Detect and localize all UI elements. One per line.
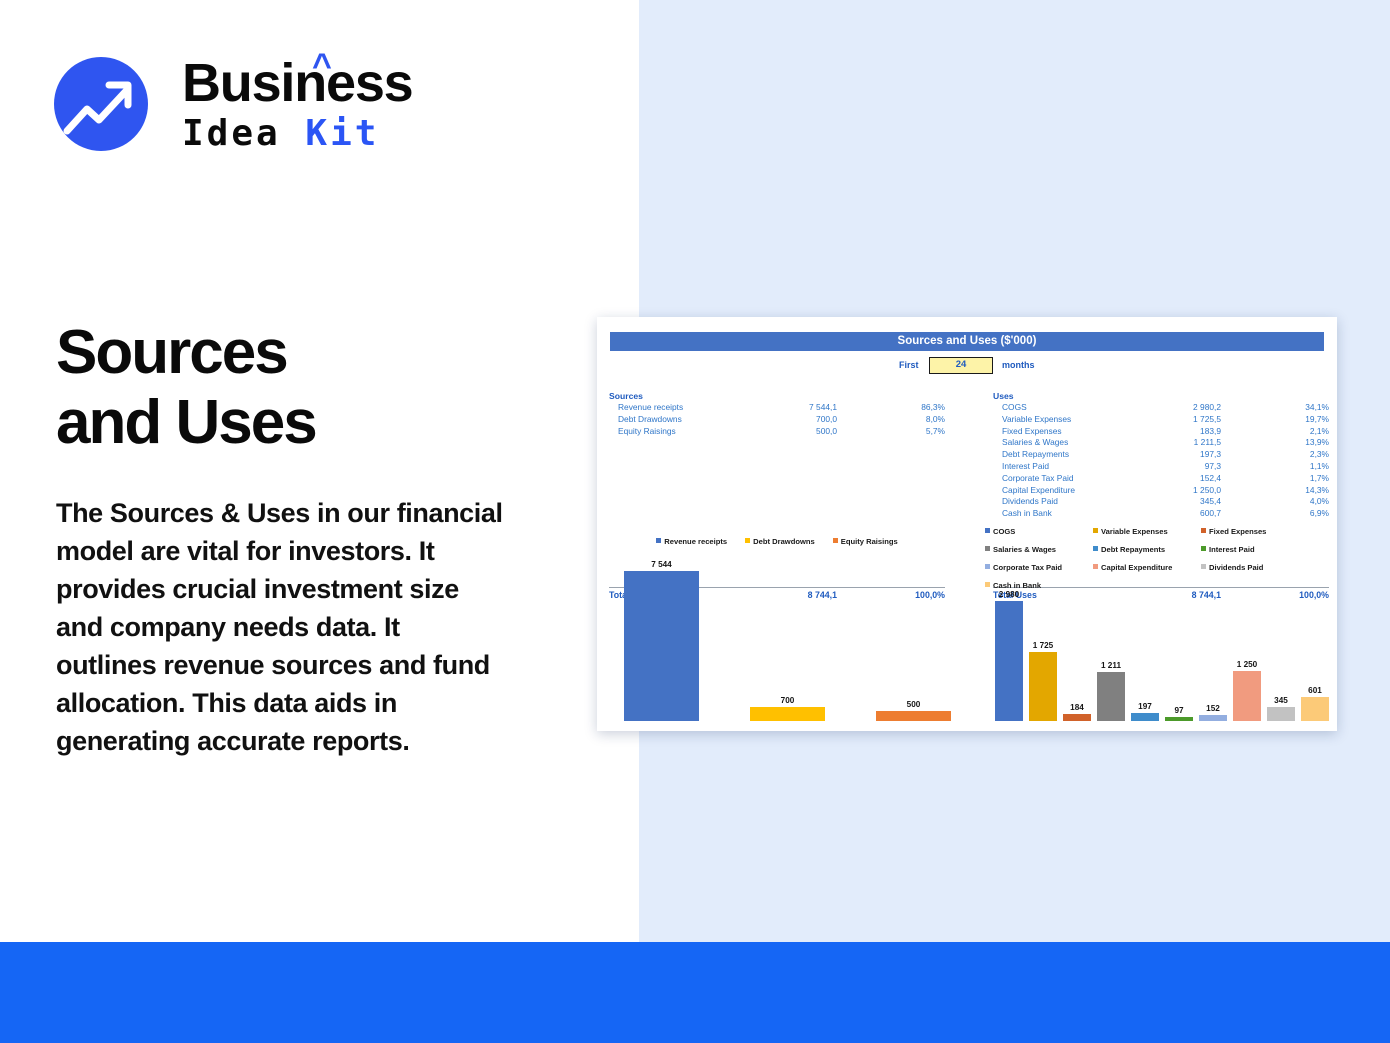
sources-row-value: 7 544,1 xyxy=(809,402,837,414)
uses-row-value: 1 250,0 xyxy=(1193,485,1221,497)
uses-row-value: 152,4 xyxy=(1200,473,1221,485)
sources-row-pct: 86,3% xyxy=(891,402,945,414)
table-row: Fixed Expenses183,92,1% xyxy=(993,426,1329,438)
table-row: Corporate Tax Paid152,41,7% xyxy=(993,473,1329,485)
table-row: Revenue receipts7 544,186,3% xyxy=(609,402,945,414)
uses-row-pct: 34,1% xyxy=(1275,402,1329,414)
legend-label: COGS xyxy=(993,527,1015,536)
sources-bar-group[interactable]: 500 xyxy=(876,571,951,721)
uses-bar-group[interactable]: 601 xyxy=(1301,601,1329,721)
sources-chart-legend: Revenue receiptsDebt DrawdownsEquity Rai… xyxy=(609,535,945,555)
sources-bar[interactable] xyxy=(876,711,951,721)
uses-row-pct: 14,3% xyxy=(1275,485,1329,497)
legend-label: Interest Paid xyxy=(1209,545,1255,554)
uses-row-value: 1 211,5 xyxy=(1194,437,1221,449)
uses-table-body: COGS2 980,234,1%Variable Expenses1 725,5… xyxy=(993,402,1329,520)
legend-label: Cash in Bank xyxy=(993,581,1041,590)
legend-label: Equity Raisings xyxy=(841,537,898,546)
uses-bar-value-label: 601 xyxy=(1301,686,1329,695)
uses-bar[interactable] xyxy=(1029,652,1057,721)
sources-bar-group[interactable]: 700 xyxy=(750,571,825,721)
uses-row-label: COGS xyxy=(1002,402,1027,414)
uses-legend-item[interactable]: Corporate Tax Paid xyxy=(985,563,1093,572)
sources-table-header: Sources xyxy=(609,391,945,401)
uses-chart-legend: COGSVariable ExpensesFixed ExpensesSalar… xyxy=(981,527,1325,599)
trend-arrow-circle-icon xyxy=(54,57,148,151)
table-row: Cash in Bank600,76,9% xyxy=(993,508,1329,520)
brand-wordmark: Business ^ Idea Kit xyxy=(182,53,452,155)
period-prefix-label: First xyxy=(899,360,919,370)
legend-swatch-icon xyxy=(1093,546,1098,551)
uses-row-label: Salaries & Wages xyxy=(1002,437,1068,449)
uses-bar[interactable] xyxy=(1063,714,1091,721)
legend-swatch-icon xyxy=(1201,528,1206,533)
sources-bar[interactable] xyxy=(750,707,825,721)
period-suffix-label: months xyxy=(1002,360,1035,370)
uses-row-value: 197,3 xyxy=(1200,449,1221,461)
sources-table-body: Revenue receipts7 544,186,3%Debt Drawdow… xyxy=(609,402,945,437)
uses-legend-item[interactable]: Capital Expenditure xyxy=(1093,563,1201,572)
table-row: Capital Expenditure1 250,014,3% xyxy=(993,485,1329,497)
uses-legend-item[interactable]: Dividends Paid xyxy=(1201,563,1309,572)
sources-table: Sources Revenue receipts7 544,186,3%Debt… xyxy=(609,391,945,437)
uses-row-pct: 1,1% xyxy=(1275,461,1329,473)
sources-row-value: 500,0 xyxy=(816,426,837,438)
legend-swatch-icon xyxy=(985,546,990,551)
legend-label: Corporate Tax Paid xyxy=(993,563,1062,572)
bottom-accent-bar xyxy=(0,942,1390,1043)
uses-row-pct: 1,7% xyxy=(1275,473,1329,485)
uses-legend-item[interactable]: Fixed Expenses xyxy=(1201,527,1309,536)
sources-row-value: 700,0 xyxy=(816,414,837,426)
uses-bar-value-label: 184 xyxy=(1063,703,1091,712)
legend-label: Salaries & Wages xyxy=(993,545,1056,554)
uses-row-pct: 2,1% xyxy=(1275,426,1329,438)
uses-bar-group[interactable]: 345 xyxy=(1267,601,1295,721)
uses-bar[interactable] xyxy=(1131,713,1159,721)
uses-row-pct: 4,0% xyxy=(1275,496,1329,508)
uses-row-value: 183,9 xyxy=(1200,426,1221,438)
uses-row-label: Fixed Expenses xyxy=(1002,426,1062,438)
sources-bar[interactable] xyxy=(624,571,699,721)
uses-legend-item[interactable]: Debt Repayments xyxy=(1093,545,1201,554)
table-row: COGS2 980,234,1% xyxy=(993,402,1329,414)
legend-label: Revenue receipts xyxy=(664,537,727,546)
period-months-input[interactable]: 24 xyxy=(929,357,993,374)
sources-and-uses-report-panel: Sources and Uses ($'000) First 24 months… xyxy=(597,317,1337,731)
uses-bar-value-label: 1 250 xyxy=(1233,660,1261,669)
period-selector-row: First 24 months xyxy=(597,357,1337,377)
legend-swatch-icon xyxy=(985,582,990,587)
uses-bar-chart: COGSVariable ExpensesFixed ExpensesSalar… xyxy=(981,527,1325,721)
uses-row-value: 345,4 xyxy=(1200,496,1221,508)
uses-row-value: 97,3 xyxy=(1205,461,1221,473)
uses-row-pct: 19,7% xyxy=(1275,414,1329,426)
legend-swatch-icon xyxy=(1093,564,1098,569)
sources-row-label: Equity Raisings xyxy=(618,426,676,438)
uses-bar-group[interactable]: 197 xyxy=(1131,601,1159,721)
uses-bar[interactable] xyxy=(1267,707,1295,721)
legend-label: Variable Expenses xyxy=(1101,527,1168,536)
legend-label: Capital Expenditure xyxy=(1101,563,1172,572)
legend-swatch-icon xyxy=(1201,546,1206,551)
uses-bar[interactable] xyxy=(995,601,1023,721)
uses-row-label: Dividends Paid xyxy=(1002,496,1058,508)
sources-bar-group[interactable]: 7 544 xyxy=(624,571,699,721)
legend-swatch-icon xyxy=(1093,528,1098,533)
uses-row-value: 1 725,5 xyxy=(1193,414,1221,426)
uses-row-value: 2 980,2 xyxy=(1193,402,1221,414)
uses-legend-item[interactable]: Variable Expenses xyxy=(1093,527,1201,536)
brand-name-idea: Idea xyxy=(182,113,281,154)
legend-swatch-icon xyxy=(985,564,990,569)
brand-name-line2: Idea Kit xyxy=(182,113,379,154)
uses-bar-value-label: 97 xyxy=(1165,706,1193,715)
table-row: Dividends Paid345,44,0% xyxy=(993,496,1329,508)
sources-bar-value-label: 500 xyxy=(876,700,951,709)
legend-swatch-icon xyxy=(1201,564,1206,569)
brand-name-kit: Kit xyxy=(305,113,379,154)
legend-swatch-icon xyxy=(745,538,750,543)
uses-row-label: Capital Expenditure xyxy=(1002,485,1075,497)
legend-swatch-icon xyxy=(656,538,661,543)
uses-bar-value-label: 197 xyxy=(1131,702,1159,711)
sources-chart-plot: 7 544700500 xyxy=(609,571,945,721)
uses-row-label: Cash in Bank xyxy=(1002,508,1052,520)
uses-bar-group[interactable]: 1 250 xyxy=(1233,601,1261,721)
page-title: Sources and Uses xyxy=(56,318,576,458)
uses-bar-value-label: 1 725 xyxy=(1029,641,1057,650)
uses-bar-value-label: 1 211 xyxy=(1097,661,1125,670)
sources-row-pct: 5,7% xyxy=(891,426,945,438)
sources-row-label: Debt Drawdowns xyxy=(618,414,682,426)
uses-bar-group[interactable]: 97 xyxy=(1165,601,1193,721)
uses-bar-value-label: 2 980 xyxy=(995,590,1023,599)
uses-bar-group[interactable]: 1 725 xyxy=(1029,601,1057,721)
uses-legend-item[interactable]: COGS xyxy=(985,527,1093,536)
uses-table: Uses COGS2 980,234,1%Variable Expenses1 … xyxy=(993,391,1329,520)
uses-legend-item[interactable]: Interest Paid xyxy=(1201,545,1309,554)
legend-label: Dividends Paid xyxy=(1209,563,1263,572)
table-row: Salaries & Wages1 211,513,9% xyxy=(993,437,1329,449)
uses-bar[interactable] xyxy=(1097,672,1125,721)
sources-bar-value-label: 700 xyxy=(750,696,825,705)
uses-bar-group[interactable]: 184 xyxy=(1063,601,1091,721)
uses-legend-item[interactable]: Salaries & Wages xyxy=(985,545,1093,554)
uses-row-pct: 6,9% xyxy=(1275,508,1329,520)
table-row: Debt Drawdowns700,08,0% xyxy=(609,414,945,426)
uses-bar[interactable] xyxy=(1199,715,1227,721)
table-row: Variable Expenses1 725,519,7% xyxy=(993,414,1329,426)
brand-name-line1: Business ^ xyxy=(182,53,452,113)
circumflex-accent-icon: ^ xyxy=(312,49,331,83)
page-description: The Sources & Uses in our financial mode… xyxy=(56,494,506,760)
sources-legend-item[interactable]: Revenue receipts xyxy=(656,537,727,546)
uses-row-label: Interest Paid xyxy=(1002,461,1049,473)
sources-row-label: Revenue receipts xyxy=(618,402,683,414)
uses-table-header: Uses xyxy=(993,391,1329,401)
legend-label: Debt Repayments xyxy=(1101,545,1165,554)
legend-label: Fixed Expenses xyxy=(1209,527,1266,536)
sources-bar-value-label: 7 544 xyxy=(624,560,699,569)
sources-legend-item[interactable]: Debt Drawdowns xyxy=(745,537,815,546)
legend-swatch-icon xyxy=(985,528,990,533)
table-row: Interest Paid97,31,1% xyxy=(993,461,1329,473)
headline-line-2: and Uses xyxy=(56,388,576,458)
uses-bar-group[interactable]: 152 xyxy=(1199,601,1227,721)
uses-bar-group[interactable]: 1 211 xyxy=(1097,601,1125,721)
table-row: Equity Raisings500,05,7% xyxy=(609,426,945,438)
uses-bar[interactable] xyxy=(1301,697,1329,721)
uses-row-value: 600,7 xyxy=(1200,508,1221,520)
legend-swatch-icon xyxy=(833,538,838,543)
uses-bar[interactable] xyxy=(1165,717,1193,721)
uses-bar[interactable] xyxy=(1233,671,1261,721)
table-row: Debt Repayments197,32,3% xyxy=(993,449,1329,461)
uses-bar-group[interactable]: 2 980 xyxy=(995,601,1023,721)
sources-row-pct: 8,0% xyxy=(891,414,945,426)
uses-row-label: Variable Expenses xyxy=(1002,414,1071,426)
sources-bar-chart: Revenue receiptsDebt DrawdownsEquity Rai… xyxy=(609,535,945,721)
report-title-bar: Sources and Uses ($'000) xyxy=(610,332,1324,351)
headline-line-1: Sources xyxy=(56,318,576,388)
uses-chart-plot: 2 9801 7251841 211197971521 250345601 xyxy=(981,601,1325,721)
uses-bar-value-label: 152 xyxy=(1199,704,1227,713)
uses-row-pct: 2,3% xyxy=(1275,449,1329,461)
uses-row-label: Debt Repayments xyxy=(1002,449,1069,461)
uses-legend-item[interactable]: Cash in Bank xyxy=(985,581,1093,590)
brand-logo: Business ^ Idea Kit xyxy=(54,55,454,160)
uses-row-label: Corporate Tax Paid xyxy=(1002,473,1074,485)
uses-row-pct: 13,9% xyxy=(1275,437,1329,449)
uses-bar-value-label: 345 xyxy=(1267,696,1295,705)
sources-legend-item[interactable]: Equity Raisings xyxy=(833,537,898,546)
legend-label: Debt Drawdowns xyxy=(753,537,815,546)
